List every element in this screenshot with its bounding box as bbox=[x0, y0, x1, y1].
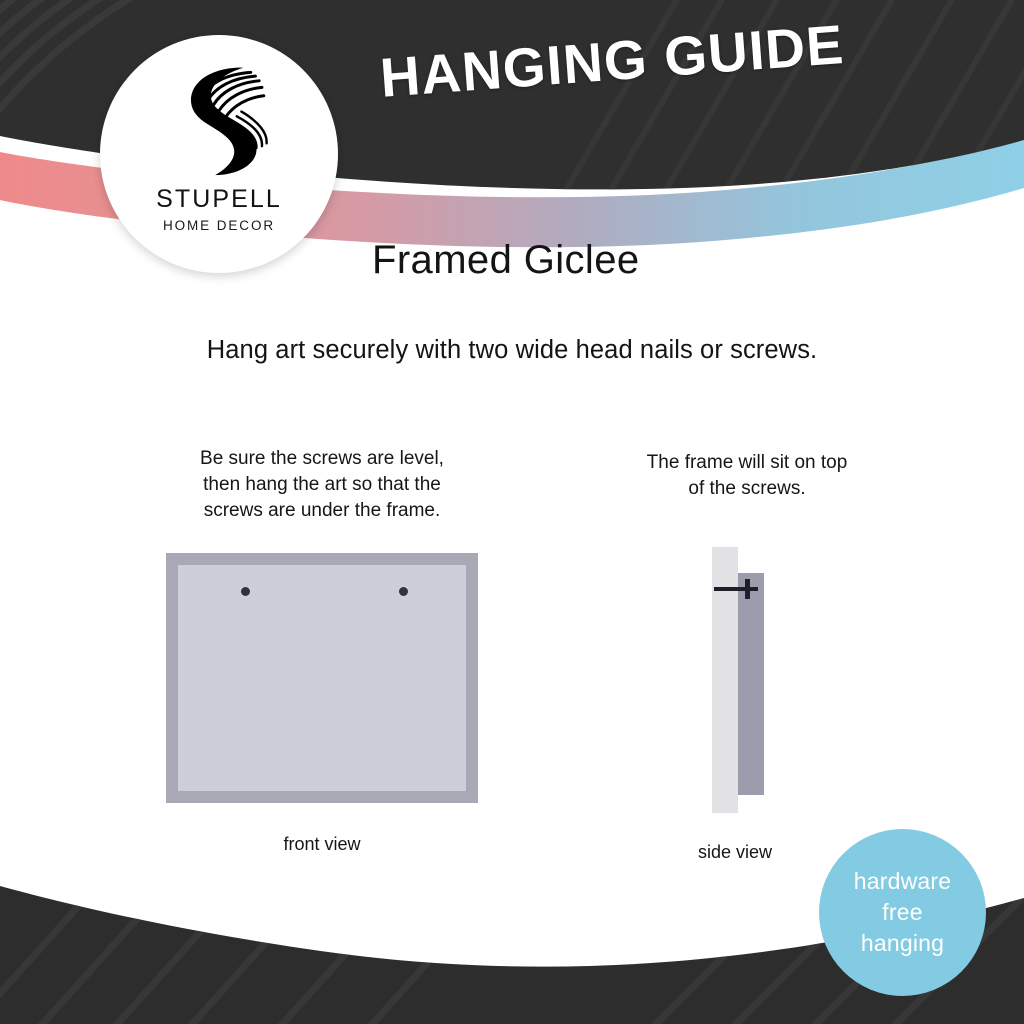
nail-shaft-icon bbox=[714, 587, 758, 591]
logo-wordmark: STUPELL bbox=[156, 185, 282, 214]
brand-logo-badge: STUPELL HOME DECOR bbox=[100, 35, 338, 273]
side-view-caption: The frame will sit on top of the screws. bbox=[592, 450, 902, 502]
stupell-swoosh-icon bbox=[163, 59, 275, 181]
caption-line: of the screws. bbox=[592, 476, 902, 502]
nail-head-icon bbox=[745, 579, 750, 599]
hanging-guide-page: STUPELL HOME DECOR HANGING GUIDE Framed … bbox=[0, 0, 1024, 1024]
badge-line: hanging bbox=[861, 928, 944, 959]
main-instruction-text: Hang art securely with two wide head nai… bbox=[0, 336, 1024, 365]
badge-line: free bbox=[882, 897, 922, 928]
caption-line: The frame will sit on top bbox=[592, 450, 902, 476]
badge-line: hardware bbox=[854, 866, 952, 897]
screw-dot-left-icon bbox=[241, 587, 250, 596]
screw-dot-right-icon bbox=[399, 587, 408, 596]
side-view-frame bbox=[738, 573, 764, 795]
page-title: HANGING GUIDE bbox=[378, 12, 846, 110]
caption-line: screws are under the frame. bbox=[152, 498, 492, 524]
side-view-label: side view bbox=[655, 842, 815, 863]
front-view-caption: Be sure the screws are level, then hang … bbox=[152, 446, 492, 524]
front-view-label: front view bbox=[162, 834, 482, 855]
product-type-title: Framed Giclee bbox=[372, 238, 640, 283]
caption-line: Be sure the screws are level, bbox=[152, 446, 492, 472]
caption-line: then hang the art so that the bbox=[152, 472, 492, 498]
logo-tagline: HOME DECOR bbox=[163, 218, 275, 233]
hardware-free-hanging-badge: hardware free hanging bbox=[819, 829, 986, 996]
front-view-mat bbox=[178, 565, 466, 791]
front-view-frame-diagram bbox=[166, 553, 478, 803]
